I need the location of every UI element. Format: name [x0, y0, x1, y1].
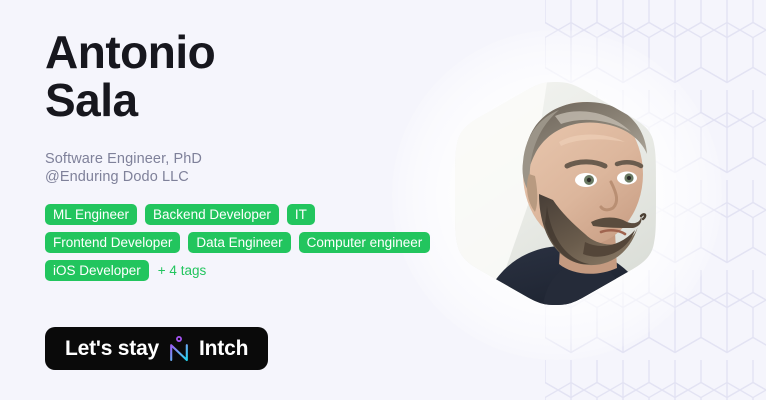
cta-brand-label: Intch	[199, 337, 248, 361]
profile-job-title: Software Engineer, PhD	[45, 150, 202, 168]
profile-last-name: Sala	[45, 76, 465, 124]
tag-chip[interactable]: IT	[287, 204, 315, 225]
tag-chip[interactable]: Data Engineer	[188, 232, 290, 253]
tag-chip[interactable]: Computer engineer	[299, 232, 431, 253]
page-title: Antonio Sala	[45, 28, 465, 124]
tag-list: ML Engineer Backend Developer IT Fronten…	[45, 204, 445, 281]
tag-chip[interactable]: Frontend Developer	[45, 232, 180, 253]
profile-company: @Enduring Dodo LLC	[45, 168, 202, 186]
cta-prefix-label: Let's stay	[65, 337, 159, 361]
lets-stay-intch-button[interactable]: Let's stay Intch	[45, 327, 268, 370]
profile-subtitle: Software Engineer, PhD @Enduring Dodo LL…	[45, 150, 202, 186]
profile-card: Antonio Sala Software Engineer, PhD @End…	[0, 0, 766, 400]
profile-first-name: Antonio	[45, 28, 465, 76]
tags-overflow-label[interactable]: + 4 tags	[157, 260, 206, 281]
intch-n-logo-icon	[168, 336, 190, 362]
tag-chip[interactable]: ML Engineer	[45, 204, 137, 225]
tag-chip[interactable]: iOS Developer	[45, 260, 149, 281]
avatar	[455, 82, 656, 305]
tag-chip[interactable]: Backend Developer	[145, 204, 279, 225]
